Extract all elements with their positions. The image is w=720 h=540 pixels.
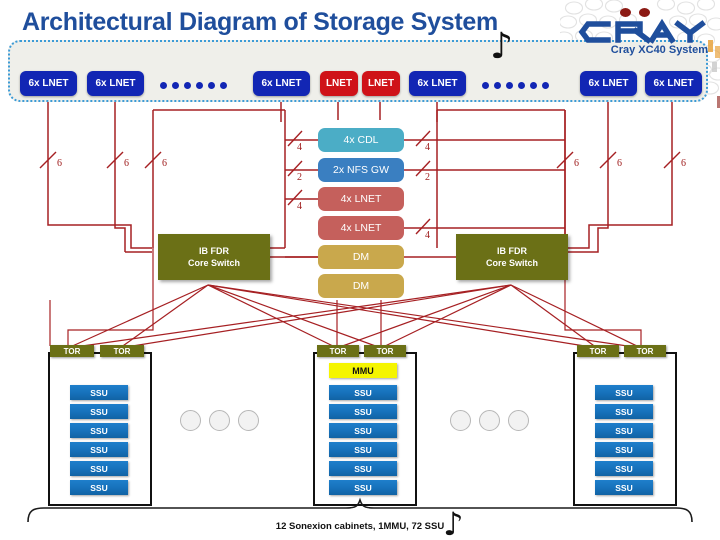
- lnet-node-3[interactable]: LNET: [320, 71, 358, 96]
- link-count-left-2: 6: [162, 158, 167, 169]
- core-switch-left-line2: Core Switch: [188, 257, 240, 269]
- left-cabinet-ssu-1[interactable]: SSU: [70, 404, 128, 419]
- middle-cabinet-tor-0[interactable]: TOR: [317, 345, 359, 357]
- ib-fdr-core-switch-left[interactable]: IB FDR Core Switch: [158, 234, 270, 280]
- lnet-node-5[interactable]: 6x LNET: [409, 71, 466, 96]
- right-cabinet-tor-1[interactable]: TOR: [624, 345, 666, 357]
- right-cabinet-ssu-2[interactable]: SSU: [595, 423, 653, 438]
- lnet-ellipsis-left: [160, 80, 232, 90]
- lnet-node-6[interactable]: 6x LNET: [580, 71, 637, 96]
- left-cabinet-tor-0[interactable]: TOR: [50, 345, 94, 357]
- lnet-node-2[interactable]: 6x LNET: [253, 71, 310, 96]
- middle-cabinet-ssu-1[interactable]: SSU: [329, 404, 397, 419]
- slide-root: Architectural Diagram of Storage System …: [0, 0, 720, 540]
- right-cabinet-tor-0[interactable]: TOR: [577, 345, 619, 357]
- middle-cabinet-mmu[interactable]: MMU: [329, 363, 397, 378]
- middle-cabinet-tor-1[interactable]: TOR: [364, 345, 406, 357]
- lnet-node-7[interactable]: 6x LNET: [645, 71, 702, 96]
- middle-cabinet-ssu-2[interactable]: SSU: [329, 423, 397, 438]
- core-switch-left-line1: IB FDR: [199, 245, 229, 257]
- system-label: Cray XC40 System: [611, 44, 708, 56]
- left-cabinet-ssu-0[interactable]: SSU: [70, 385, 128, 400]
- middle-cabinet-ssu-3[interactable]: SSU: [329, 442, 397, 457]
- ib-fdr-core-switch-right[interactable]: IB FDR Core Switch: [456, 234, 568, 280]
- lnet-node-0[interactable]: 6x LNET: [20, 71, 77, 96]
- service-box-nfs-gw[interactable]: 2x NFS GW: [318, 158, 404, 182]
- link-count-right-1: 6: [617, 158, 622, 169]
- link-count-left-1: 6: [124, 158, 129, 169]
- note-glyph-top: ♪: [490, 26, 513, 67]
- core-switch-right-line2: Core Switch: [486, 257, 538, 269]
- svc-link-right-1: 2: [425, 172, 430, 183]
- link-count-right-2: 6: [681, 158, 686, 169]
- left-cabinet-ssu-4[interactable]: SSU: [70, 461, 128, 476]
- right-cabinet-ssu-3[interactable]: SSU: [595, 442, 653, 457]
- middle-cabinet-ssu-5[interactable]: SSU: [329, 480, 397, 495]
- lnet-node-1[interactable]: 6x LNET: [87, 71, 144, 96]
- page-title: Architectural Diagram of Storage System: [22, 8, 498, 37]
- svc-link-left-1: 2: [297, 172, 302, 183]
- cabinet-ellipsis-right: [450, 410, 537, 431]
- left-cabinet-ssu-3[interactable]: SSU: [70, 442, 128, 457]
- left-cabinet-ssu-5[interactable]: SSU: [70, 480, 128, 495]
- right-cabinet-ssu-4[interactable]: SSU: [595, 461, 653, 476]
- bottom-caption: 12 Sonexion cabinets, 1MMU, 72 SSU: [0, 521, 720, 532]
- right-cabinet-ssu-5[interactable]: SSU: [595, 480, 653, 495]
- lnet-node-4[interactable]: LNET: [362, 71, 400, 96]
- left-cabinet-tor-1[interactable]: TOR: [100, 345, 144, 357]
- middle-cabinet-ssu-4[interactable]: SSU: [329, 461, 397, 476]
- svc-link-right-2: 4: [425, 230, 430, 241]
- right-cabinet-ssu-0[interactable]: SSU: [595, 385, 653, 400]
- middle-cabinet-ssu-0[interactable]: SSU: [329, 385, 397, 400]
- service-box-lnet-2[interactable]: 4x LNET: [318, 216, 404, 240]
- link-count-right-0: 6: [574, 158, 579, 169]
- svc-link-right-0: 4: [425, 142, 430, 153]
- service-box-lnet-1[interactable]: 4x LNET: [318, 187, 404, 211]
- cabinet-ellipsis-left: [180, 410, 267, 431]
- note-glyph-bottom: ♪: [443, 505, 463, 540]
- lnet-ellipsis-right: [482, 80, 554, 90]
- service-box-dm-1[interactable]: DM: [318, 245, 404, 269]
- left-cabinet-ssu-2[interactable]: SSU: [70, 423, 128, 438]
- link-count-left-0: 6: [57, 158, 62, 169]
- service-box-dm-2[interactable]: DM: [318, 274, 404, 298]
- core-switch-right-line1: IB FDR: [497, 245, 527, 257]
- service-box-cdl[interactable]: 4x CDL: [318, 128, 404, 152]
- svc-link-left-2: 4: [297, 201, 302, 212]
- svc-link-left-0: 4: [297, 142, 302, 153]
- right-cabinet-ssu-1[interactable]: SSU: [595, 404, 653, 419]
